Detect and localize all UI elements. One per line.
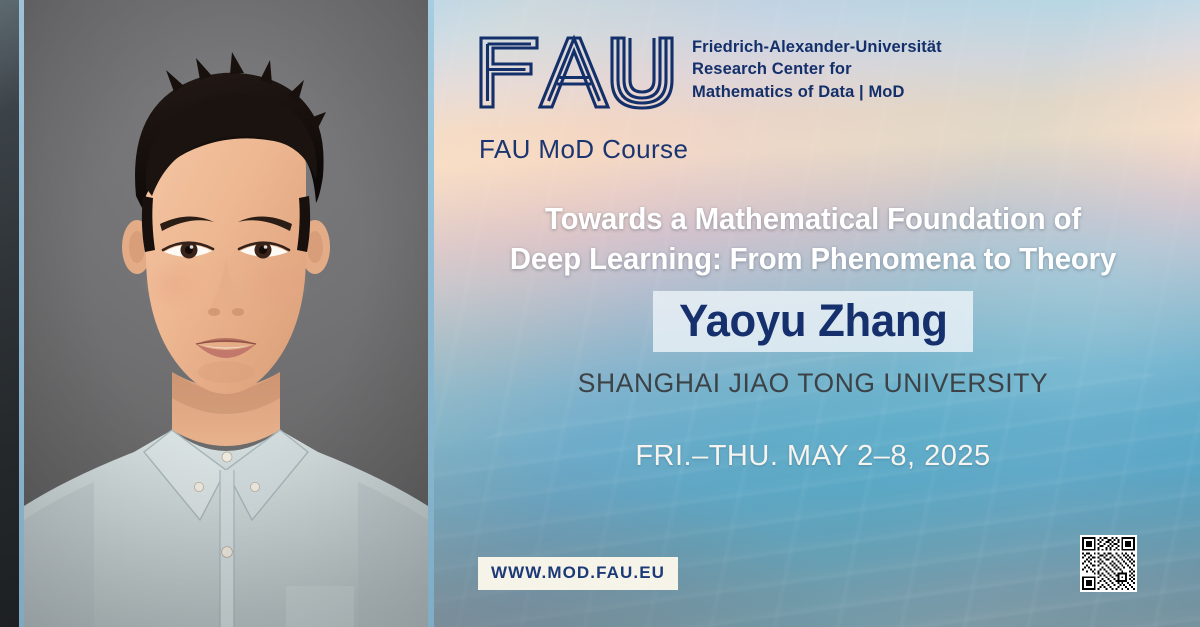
left-edge-sliver [0, 0, 19, 627]
course-kicker: FAU MoD Course [479, 134, 688, 165]
speaker-affiliation: SHANGHAI JIAO TONG UNIVERSITY [442, 368, 1185, 399]
event-title-line-2: Deep Learning: From Phenomena to Theory [449, 240, 1177, 280]
fau-logo-line-1: Friedrich-Alexander-Universität [692, 36, 942, 58]
fau-logo-mark [478, 32, 674, 110]
event-title: Towards a Mathematical Foundation of Dee… [449, 200, 1177, 280]
speaker-name-highlight: Yaoyu Zhang [653, 291, 974, 352]
speaker-name-row: Yaoyu Zhang [434, 291, 1192, 352]
portrait-vignette [24, 0, 428, 627]
fau-logo: Friedrich-Alexander-Universität Research… [478, 32, 942, 110]
speaker-name: Yaoyu Zhang [679, 298, 947, 343]
event-title-line-1: Towards a Mathematical Foundation of [449, 200, 1177, 240]
banner-panel: Friedrich-Alexander-Universität Research… [434, 0, 1200, 627]
fau-logo-wordmark: Friedrich-Alexander-Universität Research… [692, 32, 942, 103]
website-url-badge[interactable]: WWW.MOD.FAU.EU [478, 557, 678, 590]
event-dates: FRI.–THU. MAY 2–8, 2025 [434, 440, 1192, 473]
qr-code[interactable] [1080, 535, 1137, 592]
fau-logo-line-3: Mathematics of Data | MoD [692, 81, 942, 103]
fau-logo-line-2: Research Center for [692, 58, 942, 80]
banner-content: Friedrich-Alexander-Universität Research… [434, 0, 1200, 627]
event-announcement-poster: Friedrich-Alexander-Universität Research… [0, 0, 1200, 627]
speaker-portrait [24, 0, 428, 627]
qr-code-graphic [1080, 535, 1137, 592]
